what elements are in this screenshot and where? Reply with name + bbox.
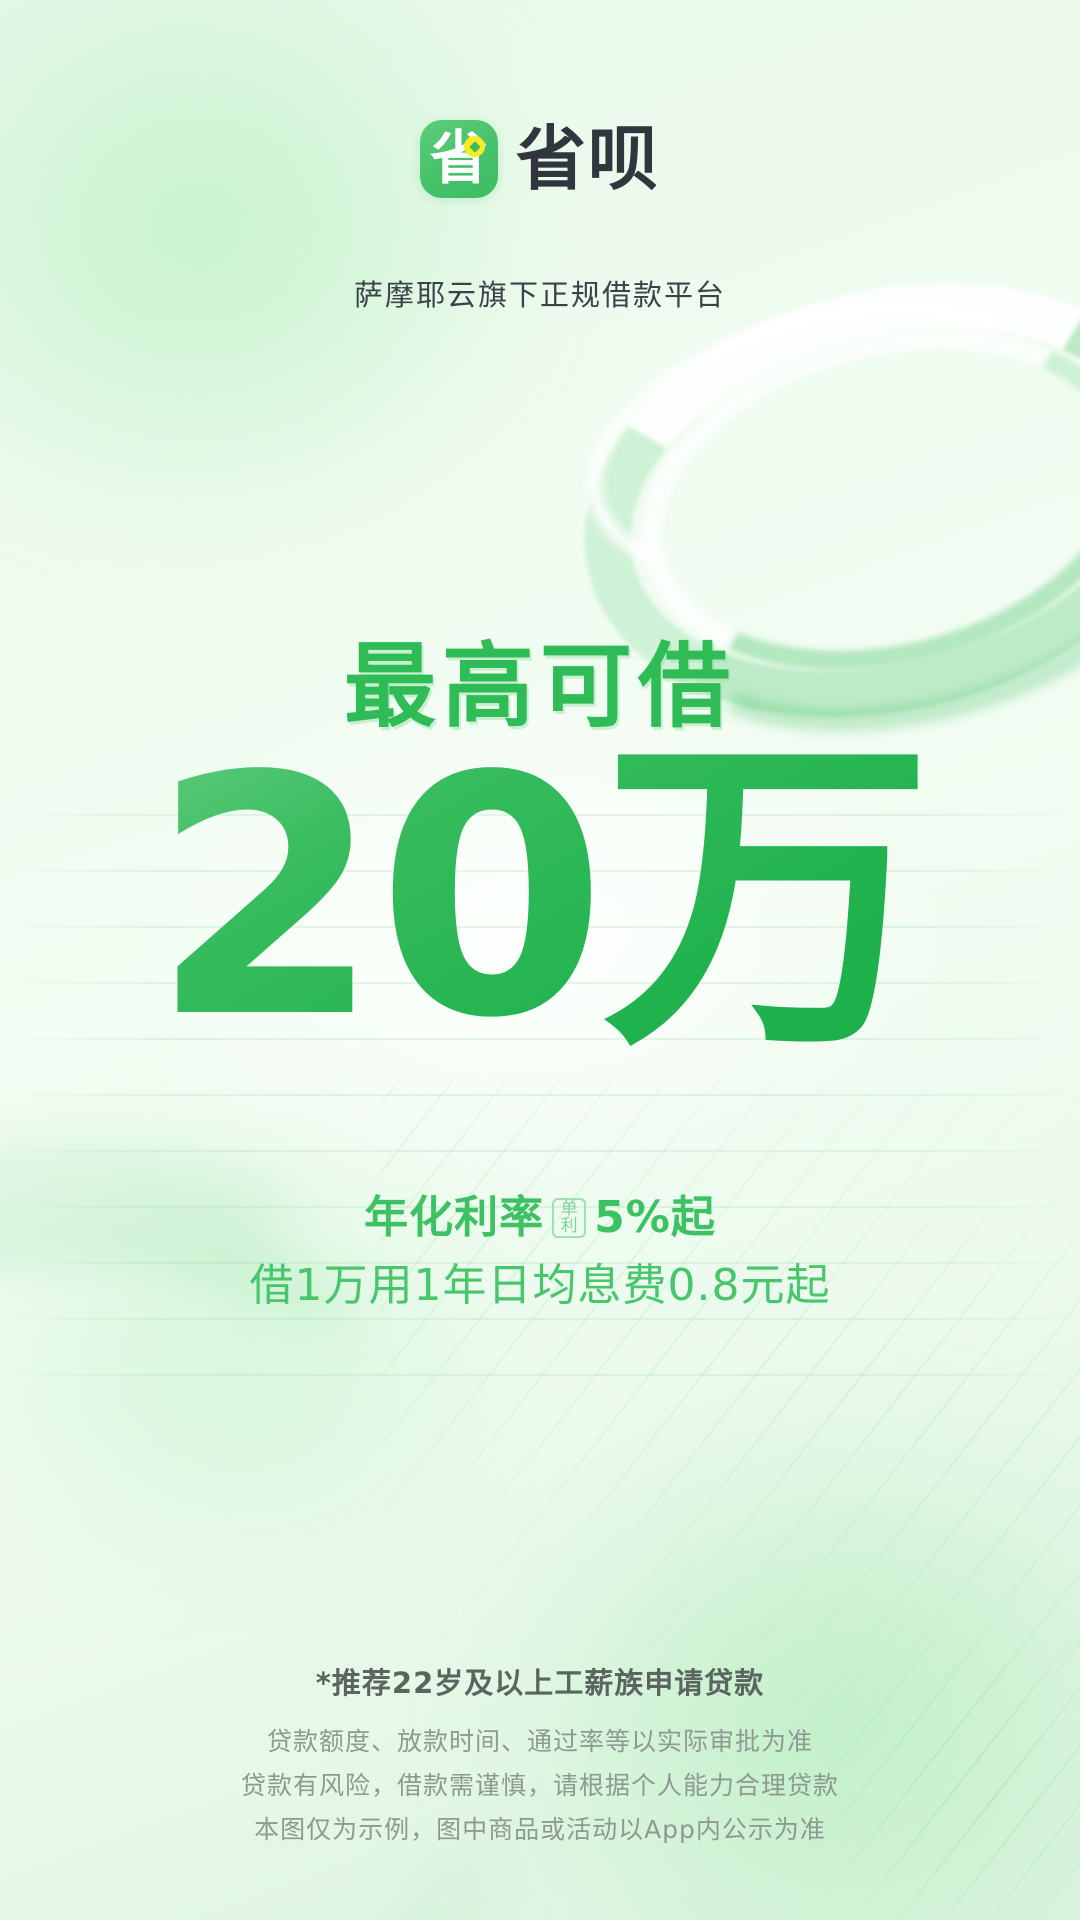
simple-interest-badge: 单 利 <box>552 1198 586 1238</box>
annual-rate-value: 5%起 <box>594 1196 716 1240</box>
app-icon-glyph: 省 <box>420 120 498 198</box>
hero-section: 最高可借 20万 <box>0 640 1080 1055</box>
annual-rate-label: 年化利率 <box>364 1196 544 1240</box>
poster-content: 省 省呗 萨摩耶云旗下正规借款平台 最高可借 20万 年化利率 单 利 5%起 … <box>0 0 1080 1920</box>
app-icon-badge-dot <box>464 136 485 157</box>
footer-disclaimer-block: *推荐22岁及以上工薪族申请贷款 贷款额度、放款时间、通过率等以实际审批为准 贷… <box>0 1669 1080 1852</box>
brand-lockup: 省 省呗 <box>0 120 1080 198</box>
footer-disclaimer-line: 本图仅为示例，图中商品或活动以App内公示为准 <box>0 1808 1080 1852</box>
footer-disclaimer-line: 贷款额度、放款时间、通过率等以实际审批为准 <box>0 1720 1080 1764</box>
annual-rate-line: 年化利率 单 利 5%起 <box>364 1196 716 1240</box>
brand-wordmark: 省呗 <box>516 124 660 194</box>
footer-highlight: *推荐22岁及以上工薪族申请贷款 <box>0 1669 1080 1698</box>
hero-loan-amount: 20万 <box>0 742 1080 1056</box>
simple-interest-badge-char-2: 利 <box>561 1218 578 1235</box>
daily-interest-example: 借1万用1年日均息费0.8元起 <box>0 1264 1080 1308</box>
footer-disclaimer-line: 贷款有风险，借款需谨慎，请根据个人能力合理贷款 <box>0 1764 1080 1808</box>
rate-section: 年化利率 单 利 5%起 借1万用1年日均息费0.8元起 <box>0 1196 1080 1308</box>
shengbei-app-icon: 省 <box>420 120 498 198</box>
brand-subtitle: 萨摩耶云旗下正规借款平台 <box>0 272 1080 314</box>
